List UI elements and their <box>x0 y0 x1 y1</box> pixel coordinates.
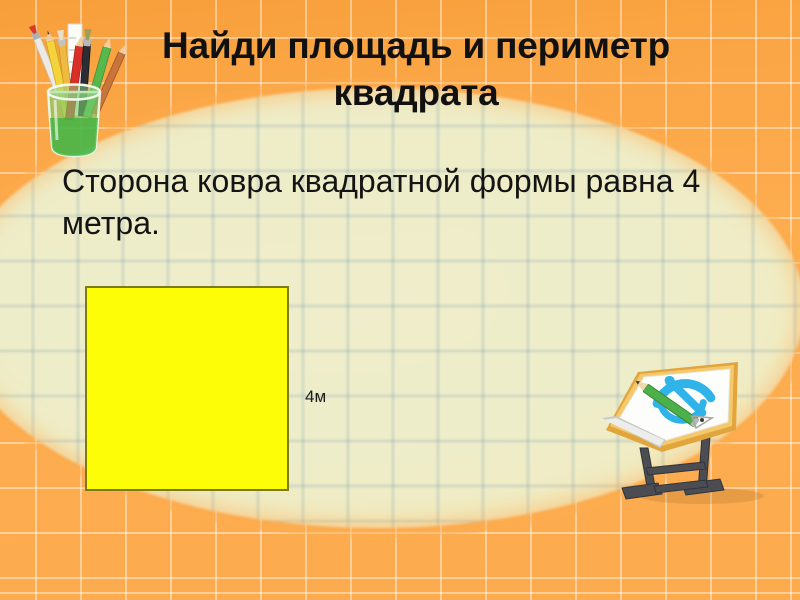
carpet-square-figure <box>85 286 289 491</box>
problem-statement: Сторона ковра квадратной формы равна 4 м… <box>62 160 762 244</box>
side-length-label: 4м <box>305 387 326 407</box>
drafting-table-icon <box>596 356 798 508</box>
page-title: Найди площадь и периметр квадрата <box>96 22 736 116</box>
pencil-cup-icon <box>22 14 126 162</box>
slide-canvas: 4м <box>0 0 800 600</box>
